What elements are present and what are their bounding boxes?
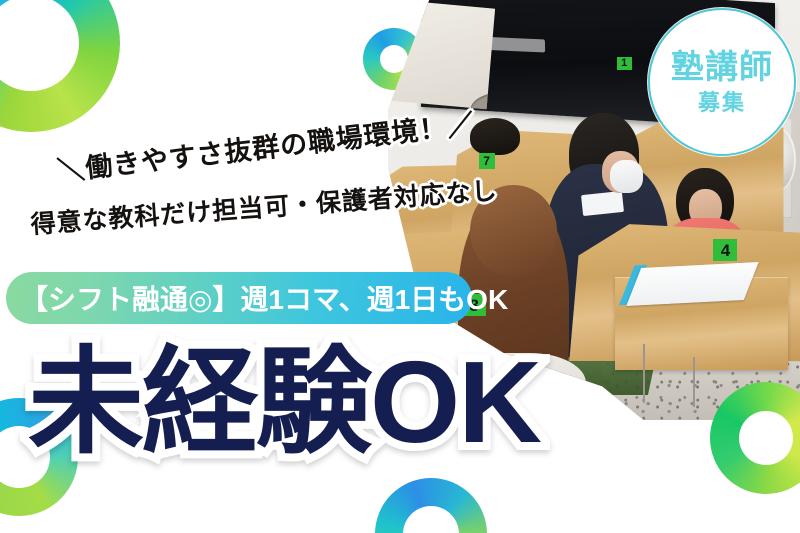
photo-tutor-mask: [610, 160, 643, 194]
booth-tag-4: 4: [713, 239, 737, 261]
booth-tag-1: 1: [617, 57, 632, 70]
recruitment-badge: 塾講師 募集: [648, 8, 796, 156]
photo-worksheet: [627, 262, 760, 306]
main-headline: 未経験OK: [28, 344, 540, 460]
booth-tag-7: 7: [479, 153, 495, 169]
shift-banner: 【シフト融通◎】週1コマ、週1日もOK: [6, 272, 472, 324]
photo-student-back-left: [470, 118, 519, 156]
decorative-ring-bottom-center: [375, 478, 487, 533]
badge-subtitle: 募集: [698, 92, 746, 114]
photo-tutor-collar: [581, 191, 624, 216]
photo-desk-leg-right: [693, 357, 695, 407]
poster-canvas: 1 2 7 8 4 塾講師 募集 ＼働きやすさ抜群の職場環境！／ 得意な教科だけ…: [0, 0, 800, 533]
shift-banner-text: 【シフト融通◎】週1コマ、週1日もOK: [6, 278, 508, 318]
badge-title: 塾講師: [671, 50, 773, 83]
decorative-ring-top-left: [0, 0, 120, 132]
photo-desk-leg-left: [643, 344, 645, 403]
